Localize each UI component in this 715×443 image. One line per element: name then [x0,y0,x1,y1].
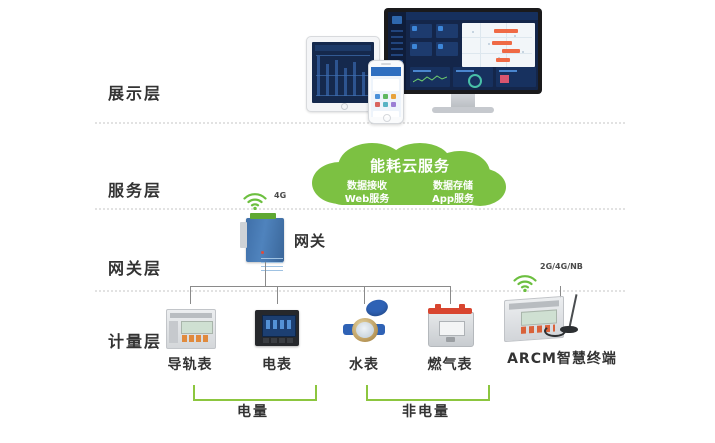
phone-home-button [383,114,391,122]
monitor-screen [388,12,538,90]
bracket-electric [193,385,317,401]
connector-branch-din [190,286,191,304]
gateway-port-panel [240,222,247,248]
meter-label-water: 水表 [324,354,404,374]
arcm-network-tag: 2G/4G/NB [540,262,583,271]
phone-device [368,60,404,124]
monitor-bezel [384,8,542,94]
meter-water: 水表 [324,300,404,374]
arcm-terminal-icon [498,292,626,344]
meter-label-gas: 燃气表 [410,354,490,374]
connector-branch-elec [277,286,278,304]
meter-electricity: 电表 [237,304,317,374]
connector-gateway-drop [265,262,266,286]
group-label-electric: 电量 [193,401,313,421]
meter-label-electricity: 电表 [237,354,317,374]
gateway-device-group: 4G 网关 [236,190,366,250]
phone-app-header [371,67,401,76]
layer-label-display: 展示层 [108,80,198,104]
gateway-network-tag: 4G [274,191,286,200]
monitor-device [384,8,542,118]
meter-gas: 燃气表 [410,304,490,374]
arcm-terminal-label: ARCM智慧终端 [498,348,626,368]
dashboard-panel-chart [410,67,450,87]
cloud-title: 能耗云服务 [310,155,510,176]
monitor-stand-neck [451,94,475,108]
layer-label-gateway: 网关层 [108,255,198,279]
group-label-non-electric: 非电量 [366,401,486,421]
tablet-screen [312,42,374,103]
gateway-label: 网关 [294,230,326,251]
connector-bus [190,286,450,287]
wifi-icon [242,192,268,210]
dashboard-map [462,23,535,67]
dashboard-panel-legend [496,67,536,87]
display-layer-devices [300,8,550,118]
antenna-icon [568,294,577,328]
monitor-stand-base [432,107,494,113]
connector-branch-gas [450,286,451,304]
gateway-terminal-block [250,213,276,219]
gas-meter-icon [410,304,490,350]
layer-divider-1 [95,122,625,124]
layer-label-service: 服务层 [108,177,198,201]
tablet-home-button [341,103,348,110]
cloud-item-app-service: App服务 [410,190,496,205]
dashboard-topbar [406,12,538,20]
arcm-terminal-group: 2G/4G/NB ARCM智慧终端 [498,262,626,368]
meter-din-rail: 导轨表 [150,304,230,374]
phone-screen [371,67,401,117]
dashboard-panel-gauge [453,67,493,87]
din-rail-meter-icon [150,304,230,350]
wifi-icon [512,274,538,292]
architecture-diagram: 展示层 服务层 网关层 计量层 [0,0,715,443]
bracket-non-electric [366,385,490,401]
electricity-meter-icon [237,304,317,350]
meter-label-din-rail: 导轨表 [150,354,230,374]
phone-speaker [381,63,391,65]
tablet-screen-header [315,45,371,51]
gateway-device-body [246,218,284,262]
water-meter-icon [324,300,404,350]
